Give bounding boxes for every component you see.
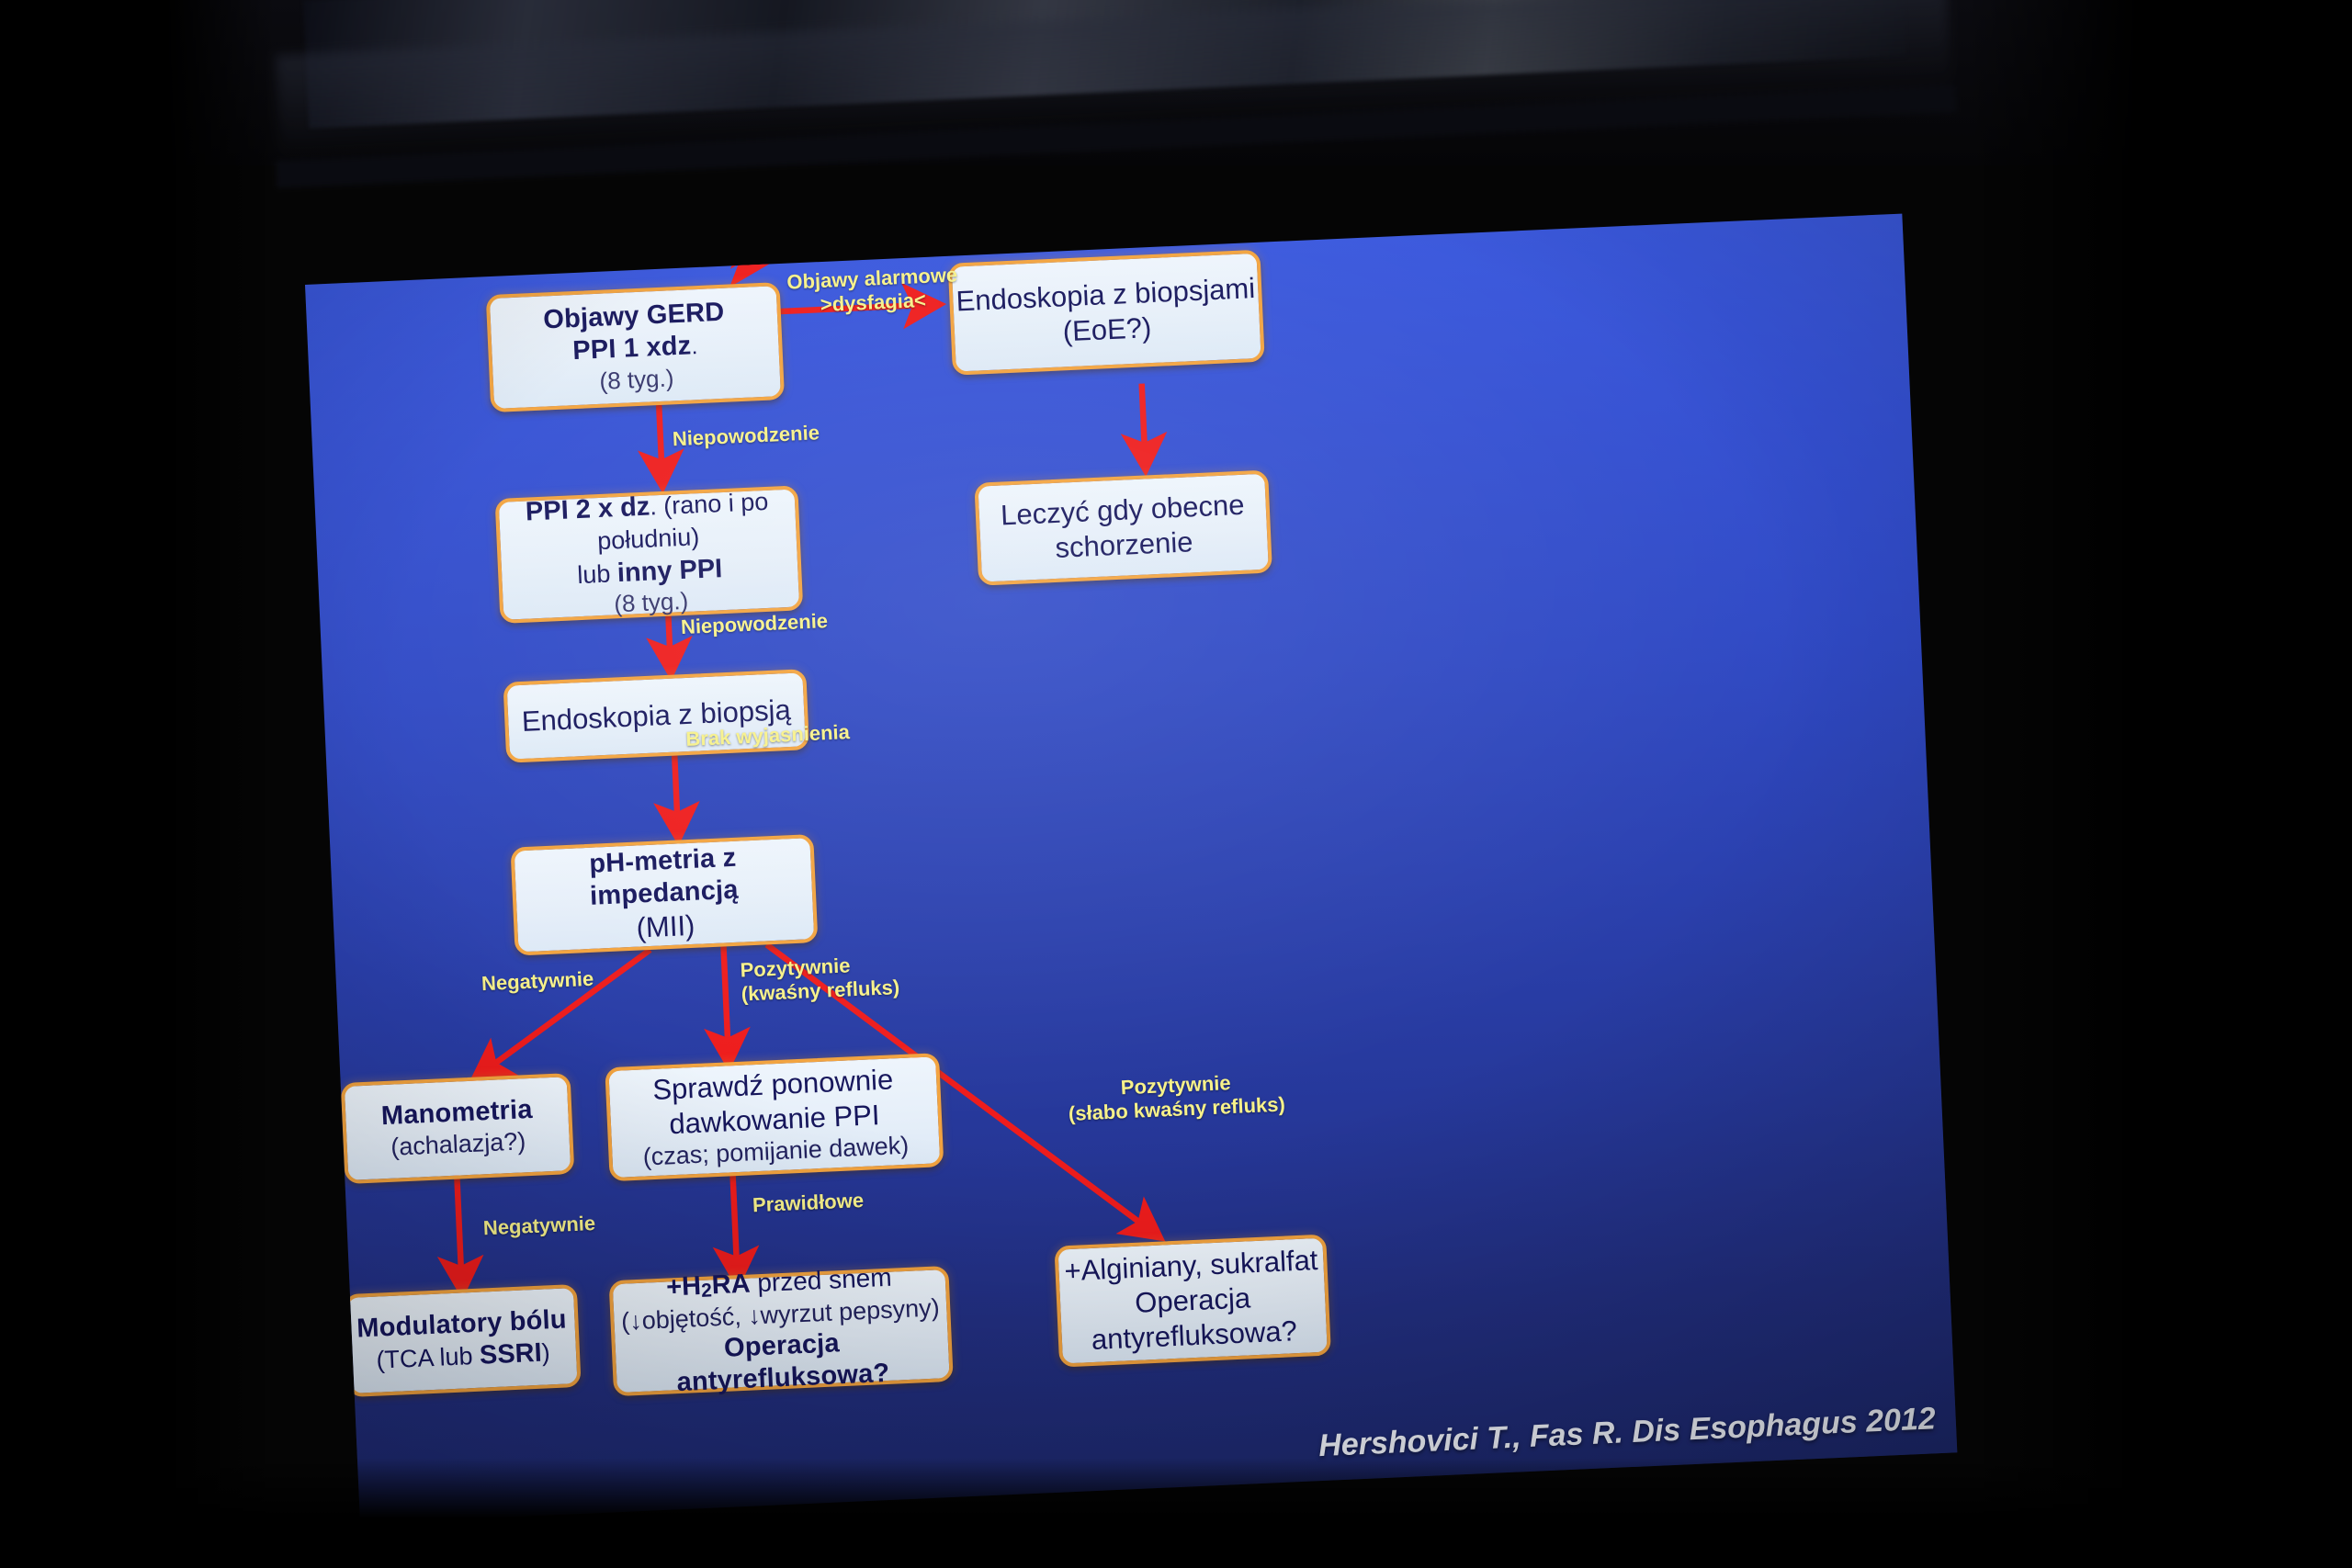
node-alginiany-sukralfat[interactable]: +Alginiany, sukralfat Operacja antyreflu…: [1054, 1235, 1331, 1368]
node-line: (8 tyg.): [614, 587, 689, 619]
photo-edge-left: [0, 0, 276, 1568]
node-endoskopia-z-biopsja[interactable]: Endoskopia z biopsją: [503, 669, 809, 763]
node-line: Operacja: [1134, 1280, 1250, 1320]
node-line: +Alginiany, sukralfat: [1064, 1243, 1318, 1289]
label-pozytywnie-slabo-kwasny: Pozytywnie (słabo kwaśny refluks): [1067, 1068, 1285, 1126]
node-sprawdz-dawkowanie-ppi[interactable]: Sprawdź ponownie dawkowanie PPI (czas; p…: [605, 1053, 944, 1181]
node-line: PPI 2 x dz. (rano i po południu): [499, 485, 797, 563]
node-modulatory-bolu[interactable]: Modulatory bólu (TCA lub SSRI): [344, 1284, 582, 1397]
node-line: pH-metria z impedancją: [514, 839, 813, 917]
node-leczyc-gdy-obecne[interactable]: Leczyć gdy obecne schorzenie: [974, 470, 1272, 586]
photo-edge-right: [1966, 0, 2352, 1568]
photo-edge-bottom: [0, 1458, 2352, 1568]
label-negatywnie-bottom: Negatywnie: [482, 1212, 595, 1241]
node-line: lub inny PPI: [577, 553, 723, 592]
node-line: (TCA lub SSRI): [376, 1337, 551, 1377]
node-line: (EoE?): [1062, 310, 1152, 349]
node-line: antyrefluksowa?: [1091, 1314, 1297, 1358]
slide-surface: Objawy GERD PPI 1 xdz. (8 tyg.) Endoskop…: [305, 214, 1957, 1524]
label-negatywnie-top: Negatywnie: [481, 967, 594, 997]
node-line: PPI 1 xdz.: [572, 330, 699, 367]
label-objawy-alarmowe: Objawy alarmowe >dysfagia<: [786, 263, 959, 319]
label-pozytywnie-kwasny: Pozytywnie (kwaśny refluks): [740, 952, 900, 1007]
node-line: (MII): [636, 908, 695, 946]
node-h2ra-przed-snem[interactable]: +H2RA przed snem (↓objętość, ↓wyrzut pep…: [609, 1266, 954, 1396]
node-line: schorzenie: [1055, 525, 1193, 565]
projection-screen: Objawy GERD PPI 1 xdz. (8 tyg.) Endoskop…: [305, 214, 1957, 1524]
label-prawidlowe: Prawidłowe: [752, 1189, 864, 1218]
node-ppi-2x-dz[interactable]: PPI 2 x dz. (rano i po południu) lub inn…: [495, 485, 804, 624]
node-line: (achalazja?): [390, 1126, 526, 1162]
node-line: (8 tyg.): [599, 364, 674, 396]
node-line: Objawy GERD: [543, 297, 726, 337]
node-line: Leczyć gdy obecne: [1000, 488, 1245, 534]
node-endoskopia-z-biopsjami[interactable]: Endoskopia z biopsjami (EoE?): [948, 250, 1265, 376]
node-manometria[interactable]: Manometria (achalazja?): [341, 1073, 575, 1184]
node-ph-metria-impedancja[interactable]: pH-metria z impedancją (MII): [510, 834, 818, 956]
node-objawy-gerd[interactable]: Objawy GERD PPI 1 xdz. (8 tyg.): [486, 282, 785, 412]
